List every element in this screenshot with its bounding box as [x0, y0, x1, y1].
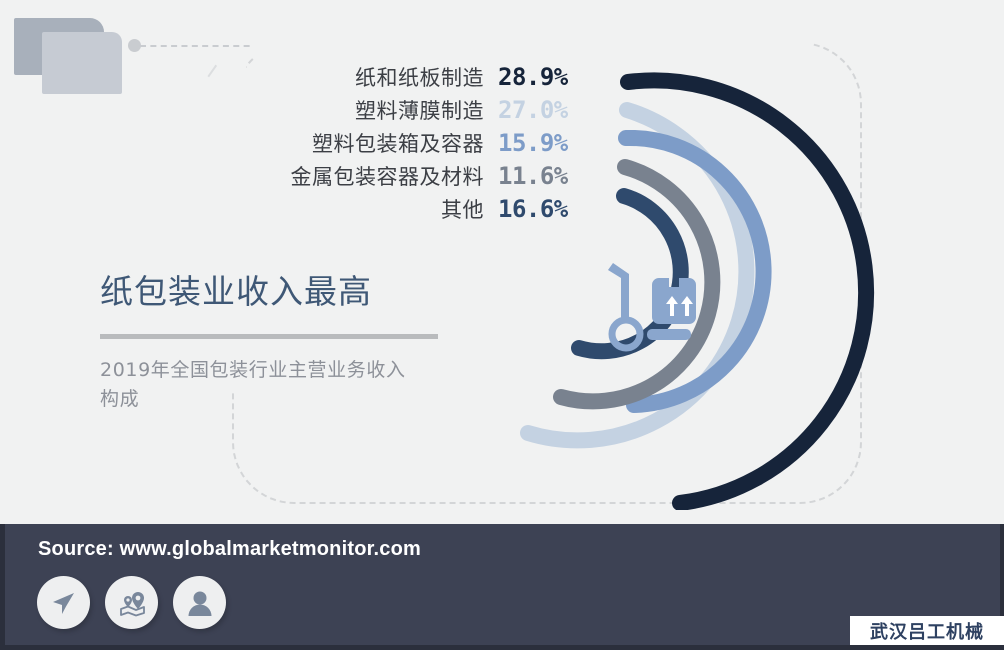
arc-other: [579, 196, 681, 351]
map-pin-icon[interactable]: [105, 576, 158, 629]
arc-chart-svg: [440, 60, 890, 510]
social-icon-row: [37, 576, 226, 629]
user-avatar-icon[interactable]: [173, 576, 226, 629]
decorative-dashed-line: [140, 45, 260, 47]
decorative-page-front: [42, 32, 122, 94]
page-subtitle: 2019年全国包装行业主营业务收入构成: [100, 356, 420, 415]
frame-mask-top: [250, 28, 810, 58]
navigation-arrow-icon[interactable]: [37, 576, 90, 629]
watermark-badge: 武汉吕工机械: [850, 616, 1004, 645]
title-divider: [100, 334, 438, 339]
infographic-poster: 纸和纸板制造 28.9% 塑料薄膜制造 27.0% 塑料包装箱及容器 15.9%…: [0, 0, 1004, 650]
source-label: Source: www.globalmarketmonitor.com: [38, 538, 421, 561]
navigation-arrow-glyph: [49, 588, 79, 618]
user-avatar-glyph: [185, 588, 215, 618]
page-title: 纸包装业收入最高: [100, 272, 460, 312]
map-pin-glyph: [116, 587, 148, 619]
watermark-text: 武汉吕工机械: [870, 618, 984, 644]
title-block: 纸包装业收入最高 2019年全国包装行业主营业务收入构成: [100, 272, 460, 414]
radial-arc-chart: [440, 60, 890, 510]
